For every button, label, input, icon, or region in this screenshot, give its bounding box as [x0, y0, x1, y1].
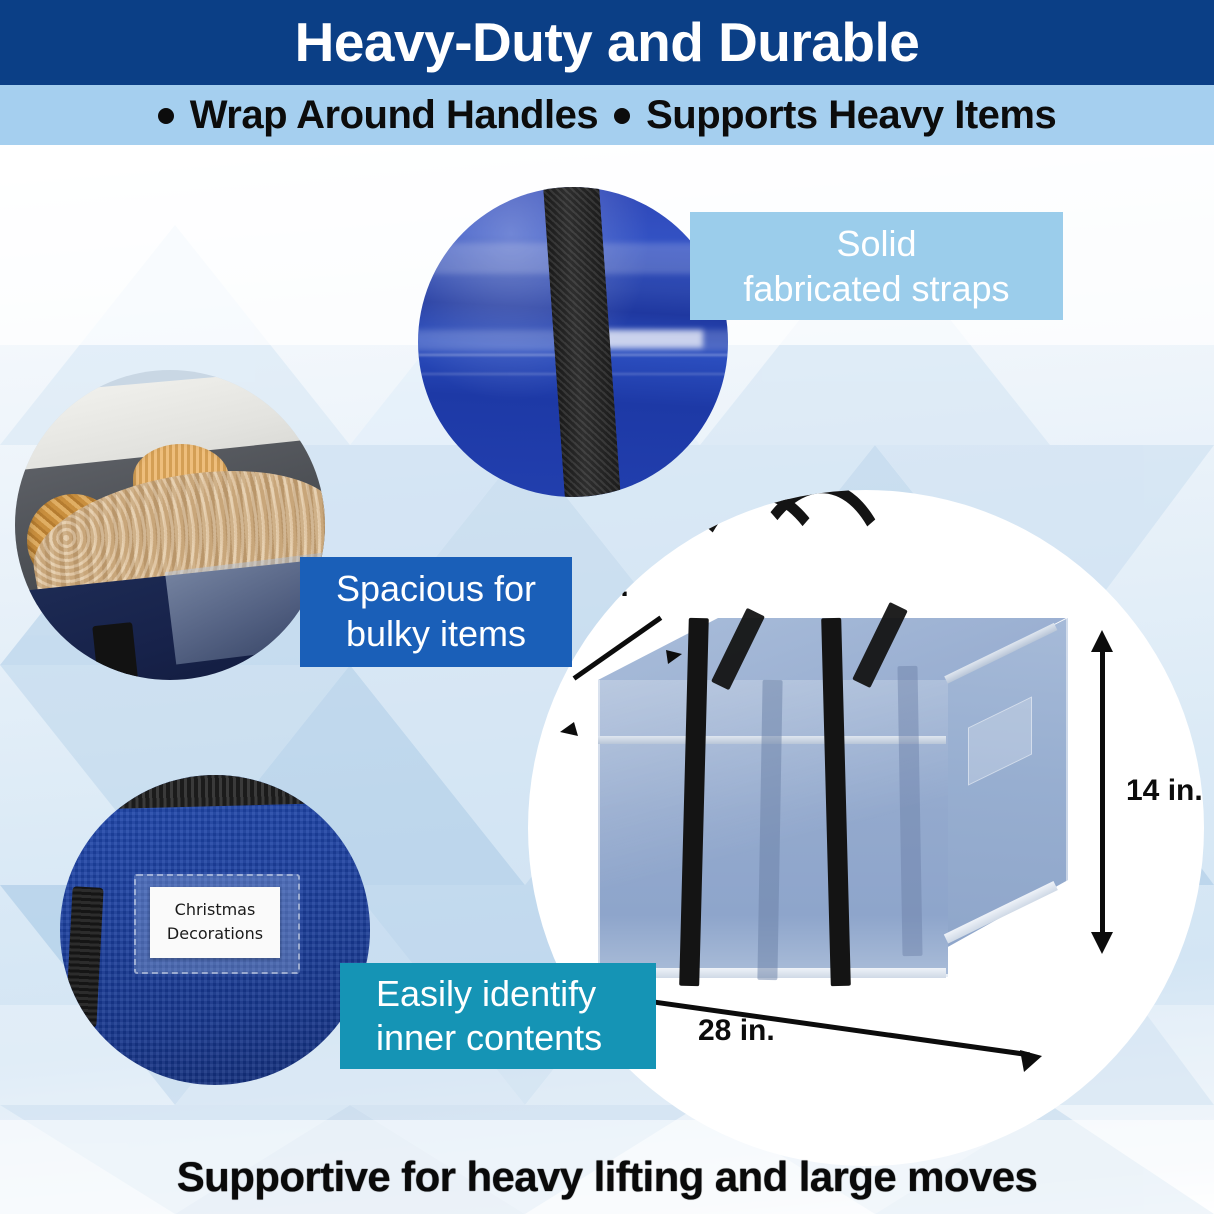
header-title-band: Heavy-Duty and Durable [0, 0, 1214, 85]
footer-tagline-band: Supportive for heavy lifting and large m… [0, 1140, 1214, 1214]
bulky-items-photo [15, 370, 325, 680]
callout-bulky-line1: Spacious for [310, 567, 562, 612]
feature-label-1: Wrap Around Handles [190, 93, 598, 138]
callout-solid-fabricated-straps: Solid fabricated straps [690, 212, 1063, 320]
header-feature-band: Wrap Around Handles Supports Heavy Items [0, 85, 1214, 145]
callout-straps-line2: fabricated straps [704, 266, 1049, 311]
straps-closeup-photo [418, 187, 728, 497]
callout-spacious-bulky-items: Spacious for bulky items [300, 557, 572, 667]
callout-identify-line1: Easily identify [376, 972, 656, 1016]
zipper-icon [103, 775, 339, 809]
height-dimension-label: 14 in. [1126, 774, 1203, 808]
callout-straps-line1: Solid [704, 221, 1049, 266]
callout-identify-line2: inner contents [376, 1016, 656, 1060]
bullet-dot-icon [158, 108, 174, 124]
callout-bulky-line2: bulky items [310, 612, 562, 657]
black-strap [543, 187, 622, 497]
page-title: Heavy-Duty and Durable [0, 0, 1214, 85]
callout-easily-identify-contents: Easily identify inner contents [340, 963, 656, 1069]
width-dimension-label: 28 in. [698, 1014, 775, 1048]
height-arrow-icon [1084, 630, 1124, 960]
label-card-line1: Christmas [175, 898, 256, 922]
footer-tagline: Supportive for heavy lifting and large m… [177, 1153, 1037, 1201]
label-card-line2: Decorations [167, 922, 263, 946]
label-pocket-photo: Christmas Decorations [60, 775, 370, 1085]
infographic-canvas: Heavy-Duty and Durable Wrap Around Handl… [0, 0, 1214, 1214]
feature-label-2: Supports Heavy Items [646, 93, 1056, 138]
depth-arrow-icon [558, 640, 698, 740]
name-card: Christmas Decorations [150, 887, 280, 958]
bullet-dot-icon [614, 108, 630, 124]
